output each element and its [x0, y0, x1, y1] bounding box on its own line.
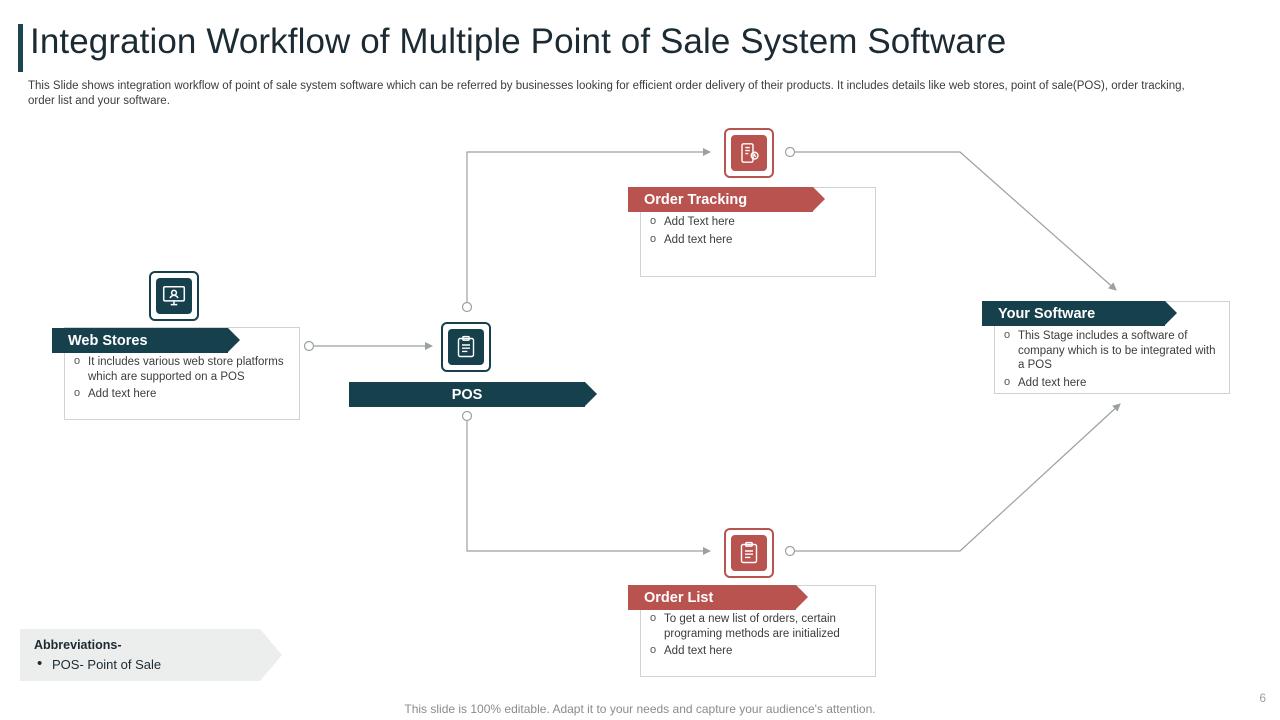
web-stores-label: Web Stores — [68, 333, 148, 349]
abbreviations-item: POS- Point of Sale — [52, 657, 161, 672]
order-tracking-ribbon: Order Tracking — [628, 187, 813, 212]
order-tracking-icon-tile — [724, 128, 774, 178]
list-item: Add Text here — [648, 215, 866, 230]
monitor-user-icon — [156, 278, 192, 314]
list-item: To get a new list of orders, certain pro… — [648, 612, 866, 641]
order-tracking-bullets: Add Text here Add text here — [648, 215, 866, 250]
title-accent-bar — [18, 24, 23, 72]
pos-icon-tile — [441, 322, 491, 372]
clipboard-list-icon — [731, 535, 767, 571]
order-list-icon-tile — [724, 528, 774, 578]
order-list-bullets: To get a new list of orders, certain pro… — [648, 612, 866, 662]
your-software-label: Your Software — [998, 306, 1095, 322]
slide: Integration Workflow of Multiple Point o… — [0, 0, 1280, 720]
pos-ribbon: POS — [349, 382, 585, 407]
order-tracking-label: Order Tracking — [644, 192, 747, 208]
your-software-bullets: This Stage includes a software of compan… — [1002, 329, 1220, 393]
list-item: Add text here — [648, 233, 866, 248]
list-item: Add text here — [1002, 376, 1220, 391]
mobile-tracking-icon — [731, 135, 767, 171]
web-stores-ribbon: Web Stores — [52, 328, 228, 353]
page-subtitle: This Slide shows integration workflow of… — [28, 79, 1208, 109]
list-item: This Stage includes a software of compan… — [1002, 329, 1220, 373]
your-software-ribbon: Your Software — [982, 301, 1165, 326]
clipboard-icon — [448, 329, 484, 365]
page-title: Integration Workflow of Multiple Point o… — [30, 22, 1006, 62]
abbreviations-title: Abbreviations- — [34, 638, 122, 652]
abbreviations-box: Abbreviations- POS- Point of Sale — [20, 629, 260, 681]
page-number: 6 — [1259, 691, 1266, 705]
order-list-ribbon: Order List — [628, 585, 796, 610]
list-item: Add text here — [72, 387, 292, 402]
web-stores-bullets: It includes various web store platforms … — [72, 355, 292, 405]
order-list-label: Order List — [644, 590, 713, 606]
pos-label: POS — [452, 387, 483, 403]
list-item: It includes various web store platforms … — [72, 355, 292, 384]
list-item: Add text here — [648, 644, 866, 659]
footer-note: This slide is 100% editable. Adapt it to… — [0, 702, 1280, 716]
web-stores-icon-tile — [149, 271, 199, 321]
